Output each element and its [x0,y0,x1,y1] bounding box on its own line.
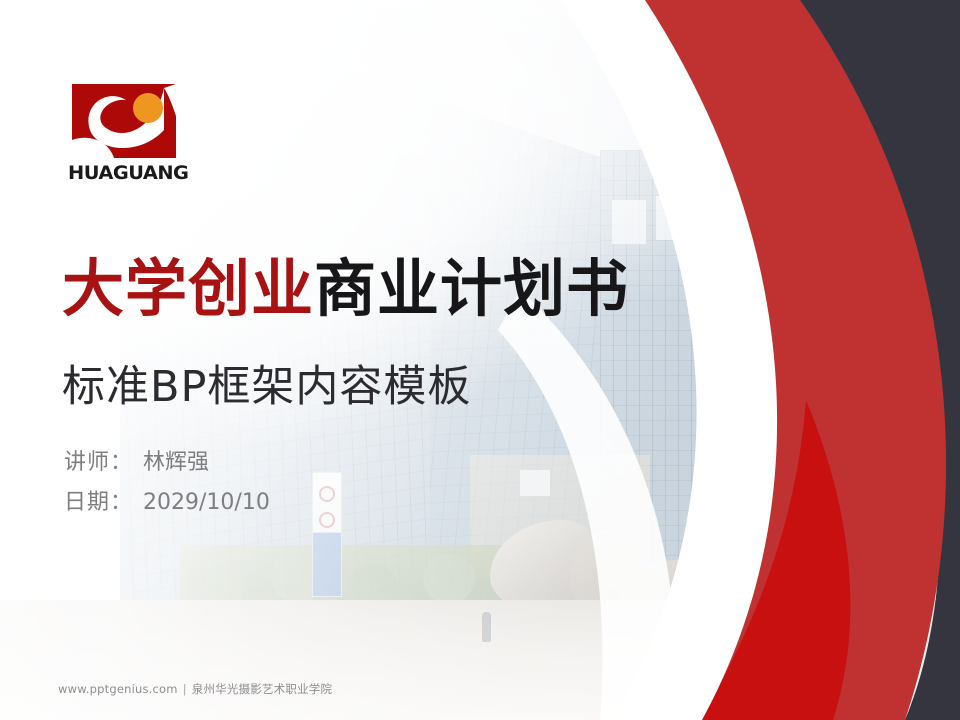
presenter-value: 林辉强 [143,450,209,475]
title-segment-black: 商业计划书 [314,252,629,325]
page-title: 大学创业商业计划书 [62,258,629,320]
logo-wordmark: HUAGUANG [68,162,188,184]
footer-site[interactable]: www.pptgenius.com [58,682,178,696]
page-subtitle: 标准BP框架内容模板 [62,352,471,414]
date-value: 2029/10/10 [143,490,270,515]
title-segment-red: 大学创业 [62,252,314,325]
footer-separator: | [183,682,187,696]
logo-mark-icon [68,82,180,160]
huaguang-logo-mark [68,82,180,160]
presentation-cover-slide: HUAGUANG 大学创业商业计划书 标准BP框架内容模板 讲师：林辉强 日期：… [0,0,960,720]
huaguang-logo: HUAGUANG [68,82,186,187]
presenter-row: 讲师：林辉强 [64,443,270,483]
footer: www.pptgenius.com|泉州华光摄影艺术职业学院 [58,681,332,697]
date-label: 日期： [64,490,133,515]
footer-institution: 泉州华光摄影艺术职业学院 [192,682,332,696]
presenter-label: 讲师： [64,450,133,475]
date-row: 日期：2029/10/10 [64,483,270,523]
presentation-meta: 讲师：林辉强 日期：2029/10/10 [64,443,270,523]
